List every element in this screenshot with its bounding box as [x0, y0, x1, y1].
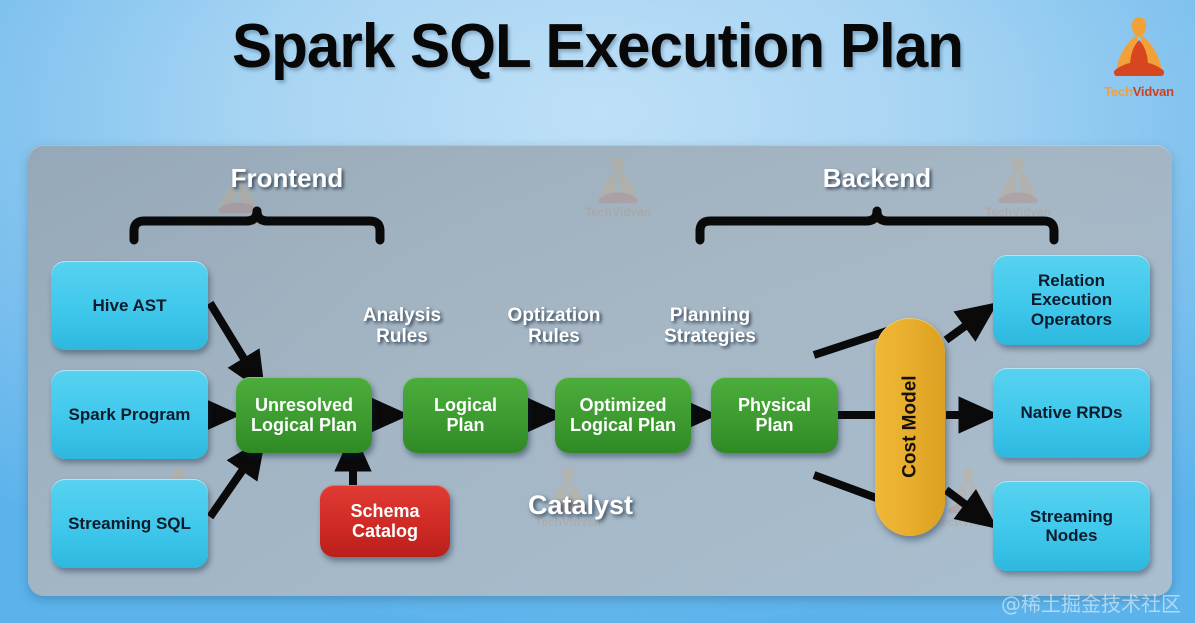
- diagram-canvas: Spark SQL Execution Plan TechVidvan Tech…: [0, 0, 1195, 623]
- techvidvan-logo: TechVidvan: [1093, 14, 1185, 114]
- node-label: Spark Program: [69, 405, 191, 424]
- rule-label-optization-rules: Optization Rules: [480, 305, 628, 348]
- node-label: Hive AST: [92, 296, 166, 315]
- site-watermark: @稀土掘金技术社区: [1001, 588, 1181, 617]
- node-native-rrds[interactable]: Native RRDs: [993, 368, 1150, 458]
- node-label: Optimized Logical Plan: [570, 395, 676, 435]
- page-title: Spark SQL Execution Plan: [18, 16, 1177, 78]
- node-label: Native RRDs: [1020, 403, 1122, 422]
- edge-cost-model-to-streaming-nodes: [946, 490, 990, 523]
- node-label: Physical Plan: [738, 395, 811, 435]
- rule-label-planning-strategies: Planning Strategies: [628, 305, 792, 348]
- node-physical-plan[interactable]: Physical Plan: [711, 377, 838, 453]
- node-streaming-nodes[interactable]: Streaming Nodes: [993, 481, 1150, 571]
- node-optimized-logical-plan[interactable]: Optimized Logical Plan: [555, 377, 691, 453]
- node-label: Streaming SQL: [68, 514, 191, 533]
- node-label: Logical Plan: [434, 395, 497, 435]
- section-label-backend: Backend: [778, 163, 976, 194]
- node-spark-program[interactable]: Spark Program: [51, 370, 208, 459]
- node-unresolved-logical-plan[interactable]: Unresolved Logical Plan: [236, 377, 372, 453]
- logo-text-vidvan: Vidvan: [1133, 84, 1174, 99]
- diagram-panel: TechVidvan TechVidvan TechVidvan: [28, 145, 1172, 596]
- rule-label-analysis-rules: Analysis Rules: [328, 305, 476, 348]
- node-label: Cost Model: [899, 376, 920, 478]
- node-streaming-sql[interactable]: Streaming SQL: [51, 479, 208, 568]
- node-relation-execution-operators[interactable]: Relation Execution Operators: [993, 255, 1150, 345]
- node-cost-model[interactable]: Cost Model: [875, 318, 945, 536]
- section-label-frontend: Frontend: [188, 163, 386, 194]
- meditating-figure-icon: [1093, 14, 1185, 86]
- node-label: Schema Catalog: [350, 501, 419, 541]
- node-label: Unresolved Logical Plan: [251, 395, 357, 435]
- logo-text-tech: Tech: [1104, 84, 1133, 99]
- node-schema-catalog[interactable]: Schema Catalog: [320, 485, 450, 557]
- node-logical-plan[interactable]: Logical Plan: [403, 377, 528, 453]
- node-label: Relation Execution Operators: [1031, 271, 1112, 328]
- node-label: Streaming Nodes: [1030, 507, 1113, 545]
- catalyst-label: Catalyst: [528, 490, 633, 521]
- edge-cost-model-to-relation-execution-operators: [946, 308, 990, 340]
- logo-wordmark: TechVidvan: [1093, 84, 1185, 99]
- edge-streaming-sql-to-unresolved: [210, 445, 260, 517]
- edge-hive-ast-to-unresolved: [210, 303, 260, 385]
- node-hive-ast[interactable]: Hive AST: [51, 261, 208, 350]
